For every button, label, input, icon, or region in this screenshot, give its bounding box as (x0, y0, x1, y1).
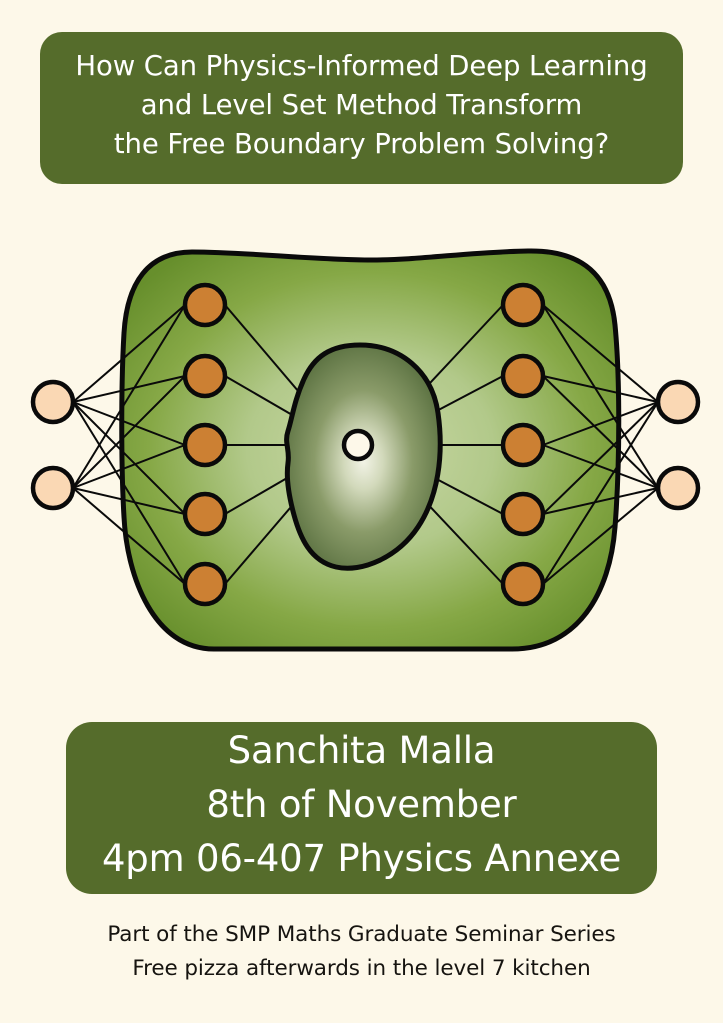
input-node (33, 382, 73, 422)
input-node (33, 468, 73, 508)
hidden-node (185, 285, 225, 325)
hidden-node (185, 356, 225, 396)
output-node (658, 468, 698, 508)
speaker-banner: Sanchita Malla 8th of November 4pm 06-40… (66, 722, 657, 894)
title-line-3: the Free Boundary Problem Solving? (114, 125, 609, 164)
output-node (658, 382, 698, 422)
diagram-svg (0, 205, 723, 705)
title-banner: How Can Physics-Informed Deep Learning a… (40, 32, 683, 184)
hidden-node (503, 564, 543, 604)
footer: Part of the SMP Maths Graduate Seminar S… (0, 918, 723, 986)
output-layer (658, 382, 698, 508)
input-layer (33, 382, 73, 508)
speaker-date: 8th of November (206, 778, 516, 832)
hidden-node (185, 425, 225, 465)
title-line-2: and Level Set Method Transform (141, 86, 582, 125)
footer-line-1: Part of the SMP Maths Graduate Seminar S… (107, 918, 615, 952)
hidden-node (185, 564, 225, 604)
neural-network-diagram (0, 205, 723, 705)
speaker-location: 4pm 06-407 Physics Annexe (102, 832, 621, 886)
footer-line-2: Free pizza afterwards in the level 7 kit… (132, 952, 590, 986)
title-line-1: How Can Physics-Informed Deep Learning (75, 47, 647, 86)
hidden-node (185, 494, 225, 534)
hidden-node (503, 425, 543, 465)
hidden-node (503, 285, 543, 325)
hidden-node (503, 494, 543, 534)
speaker-name: Sanchita Malla (228, 724, 496, 778)
poster-root: How Can Physics-Informed Deep Learning a… (0, 0, 723, 1023)
free-boundary-node (344, 431, 372, 459)
hidden-node (503, 356, 543, 396)
